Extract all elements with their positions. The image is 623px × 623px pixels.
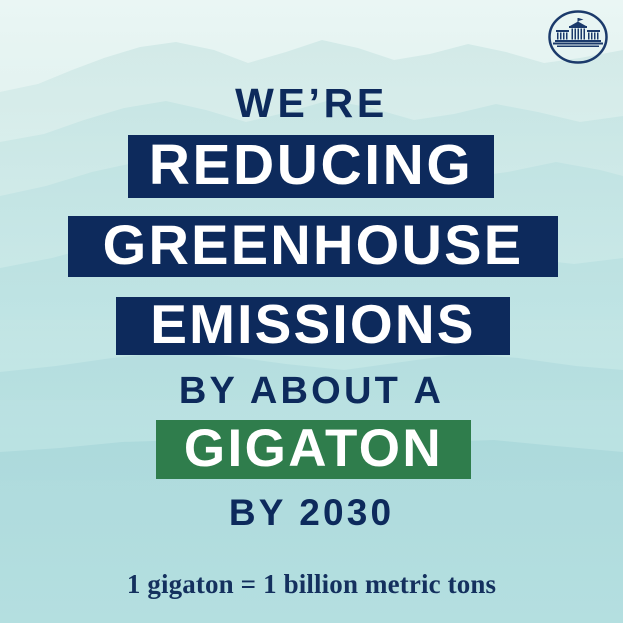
infographic-canvas: WE’RE REDUCING GREENHOUSE EMISSIONS BY A… [0,0,623,623]
headline-line-reducing: REDUCING [128,135,494,198]
headline-line-emissions: EMISSIONS [116,297,510,355]
headline-line-greenhouse: GREENHOUSE [68,216,558,277]
headline-line-were: WE’RE [0,83,623,124]
headline-line-by-about-a: BY ABOUT A [0,372,623,410]
headline-line-by-2030: BY 2030 [0,494,623,531]
footnote-text: 1 gigaton = 1 billion metric tons [0,569,623,600]
headline-stack: WE’RE REDUCING GREENHOUSE EMISSIONS BY A… [0,0,623,623]
headline-line-gigaton: GIGATON [156,420,471,479]
